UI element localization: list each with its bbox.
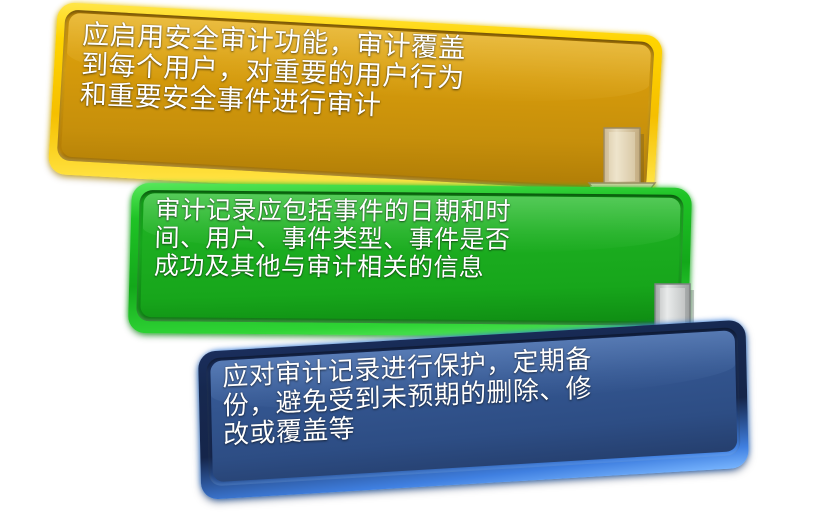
callout-box-audit-enable[interactable]: 应启用安全审计功能，审计覆盖 到每个用户，对重要的用户行为 和重要安全事件进行审… [48,2,663,208]
callout-text-audit-record-content: 审计记录应包括事件的日期和时 间、用户、事件类型、事件是否 成功及其他与审计相关… [154,197,656,284]
callout-box-audit-record-content[interactable]: 审计记录应包括事件的日期和时 间、用户、事件类型、事件是否 成功及其他与审计相关… [128,183,692,338]
callout-box-audit-record-protection[interactable]: 应对审计记录进行保护，定期备 份，避免受到未预期的删除、修 改或覆盖等 [198,319,749,499]
slide-canvas: 应启用安全审计功能，审计覆盖 到每个用户，对重要的用户行为 和重要安全事件进行审… [0,0,816,524]
